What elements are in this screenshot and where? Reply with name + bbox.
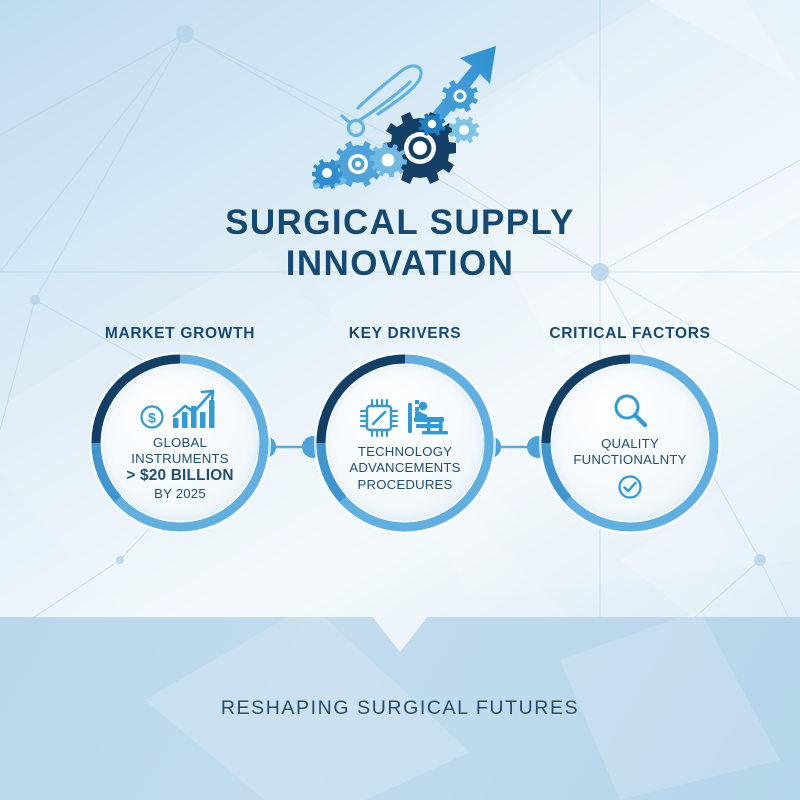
node-ring-market-growth: $ [88,351,272,535]
node-ring-key-drivers: TECHNOLOGY ADVANCEMENTS PROCEDURES [313,351,497,535]
node-line-2: > $20 BILLION [108,467,252,486]
title-line-2: INNOVATION [0,243,800,284]
bar-chart-growth-icon [171,388,221,430]
node-disc-critical-factors: QUALITY FUNCTIONALNTY [552,365,708,521]
node-line-3: PROCEDURES [349,477,460,493]
node-key-drivers[interactable]: KEY DRIVERS [305,325,505,555]
node-line-3: BY 2025 [108,486,252,502]
node-header-market-growth: MARKET GROWTH [80,325,280,343]
node-icons-market-growth: $ [139,384,221,430]
check-circle-icon [617,474,643,500]
node-text-market-growth: GLOBAL INSTRUMENTS > $20 BILLION BY 2025 [102,435,258,502]
infographic-canvas: SURGICAL SUPPLY INNOVATION MARKET GROWTH [0,0,800,800]
node-text-critical-factors: QUALITY FUNCTIONALNTY [567,436,692,468]
nodes-row: MARKET GROWTH $ [0,325,800,555]
operating-table-icon [406,397,452,439]
node-line-1: GLOBAL INSTRUMENTS [108,435,252,467]
node-icon-secondary-critical-factors [617,473,643,501]
node-header-critical-factors: CRITICAL FACTORS [530,325,730,343]
microchip-icon [358,397,400,439]
node-icons-critical-factors [610,385,650,431]
node-text-key-drivers: TECHNOLOGY ADVANCEMENTS PROCEDURES [343,444,466,492]
node-disc-key-drivers: TECHNOLOGY ADVANCEMENTS PROCEDURES [327,365,483,521]
svg-text:$: $ [148,409,156,425]
node-line-2: ADVANCEMENTS [349,460,460,476]
node-critical-factors[interactable]: CRITICAL FACTORS [530,325,730,555]
node-line-2: FUNCTIONALNTY [573,452,686,468]
footer-tagline: RESHAPING SURGICAL FUTURES [0,697,800,720]
dollar-coin-icon: $ [139,404,165,430]
node-disc-market-growth: $ [102,365,258,521]
hero-graphic [300,36,520,196]
gear-tiny-right-icon [449,117,480,144]
node-header-key-drivers: KEY DRIVERS [305,325,505,343]
node-line-1: TECHNOLOGY [349,444,460,460]
node-icons-key-drivers [358,393,452,439]
magnifier-icon [610,391,650,431]
title-line-1: SURGICAL SUPPLY [225,203,575,242]
node-ring-critical-factors: QUALITY FUNCTIONALNTY [538,351,722,535]
node-line-1: QUALITY [573,436,686,452]
page-title: SURGICAL SUPPLY INNOVATION [0,202,800,285]
node-market-growth[interactable]: MARKET GROWTH $ [80,325,280,555]
